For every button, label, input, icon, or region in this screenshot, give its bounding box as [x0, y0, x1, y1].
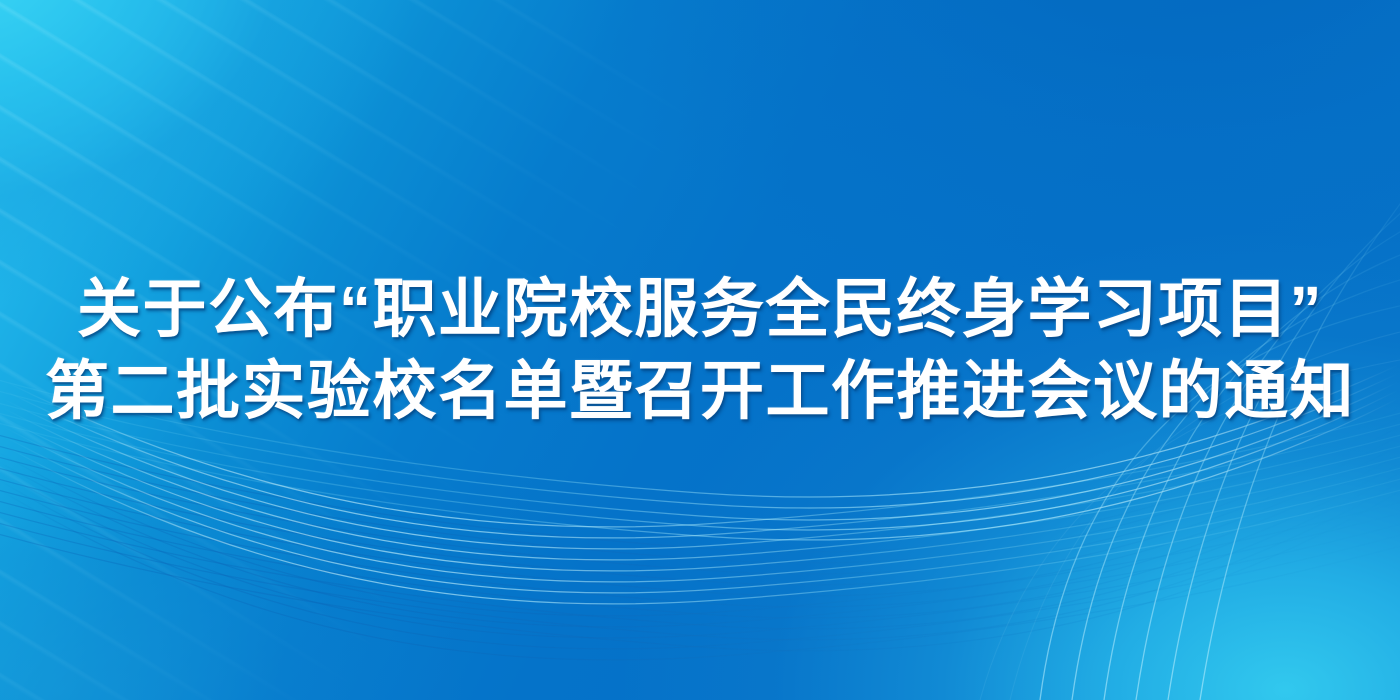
announcement-banner: 关于公布“职业院校服务全民终身学习项目” 第二批实验校名单暨召开工作推进会议的通…: [0, 0, 1400, 700]
banner-title: 关于公布“职业院校服务全民终身学习项目” 第二批实验校名单暨召开工作推进会议的通…: [0, 268, 1400, 432]
arc-lines-right: [1040, 164, 1400, 700]
title-line-1: 关于公布“职业院校服务全民终身学习项目”: [0, 268, 1400, 350]
title-line-2: 第二批实验校名单暨召开工作推进会议的通知: [0, 350, 1400, 432]
